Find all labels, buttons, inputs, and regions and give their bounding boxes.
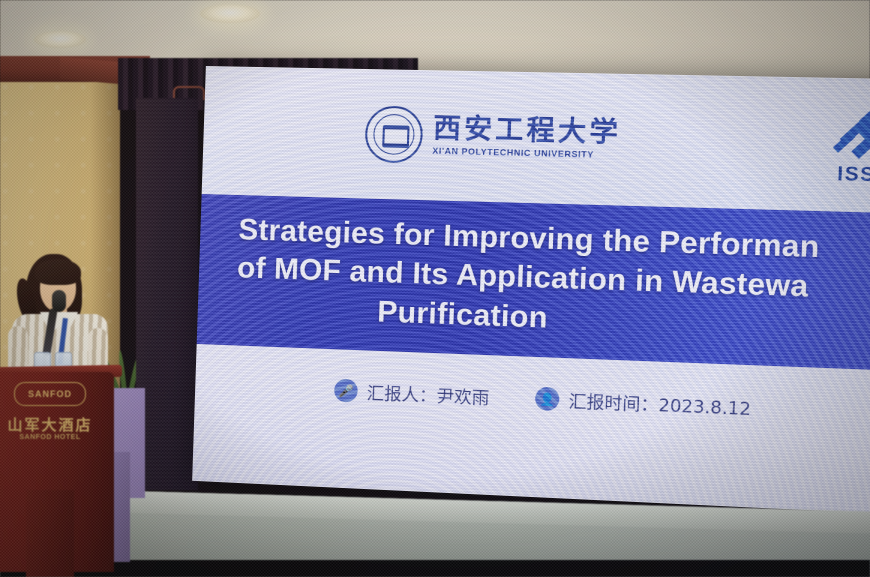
conference-photo-scene: 西安工程大学 XI'AN POLYTECHNIC UNIVERSITY ISSE…	[0, 0, 870, 577]
ceiling-downlight-icon	[34, 31, 86, 48]
microphone-icon: 🎤	[334, 379, 358, 403]
isset-name: ISSET	[806, 163, 870, 189]
presenter-fringe	[35, 259, 81, 285]
university-name-cn: 西安工程大学	[433, 115, 622, 148]
microphone-head-icon	[52, 290, 66, 312]
isset-pinwheel-icon	[829, 107, 870, 163]
av-speaker-panel	[136, 98, 198, 490]
university-logo: 西安工程大学 XI'AN POLYTECHNIC UNIVERSITY	[364, 105, 621, 168]
isset-logo: ISSET	[806, 107, 870, 190]
stage-front-shadow	[0, 560, 870, 577]
venue-name-cn: 山军大酒店	[4, 414, 96, 435]
podium-logo-plaque: SANFOD	[14, 382, 86, 406]
university-seal-icon	[364, 105, 423, 163]
slide-logo-row: 西安工程大学 XI'AN POLYTECHNIC UNIVERSITY ISSE…	[354, 97, 870, 191]
presenter-person	[8, 252, 112, 377]
podium-logo-text: SANFOD	[28, 389, 72, 399]
slide-footer-band	[192, 344, 870, 514]
ceiling-downlight-icon	[200, 4, 260, 23]
presenter-board-icon: 👤	[535, 387, 560, 412]
venue-name-en: SANFOD HOTEL	[4, 434, 96, 441]
podium-column	[26, 490, 74, 577]
slide-presenter-label: 汇报人：尹欢雨	[366, 379, 489, 409]
led-presentation-screen: 西安工程大学 XI'AN POLYTECHNIC UNIVERSITY ISSE…	[192, 66, 870, 514]
